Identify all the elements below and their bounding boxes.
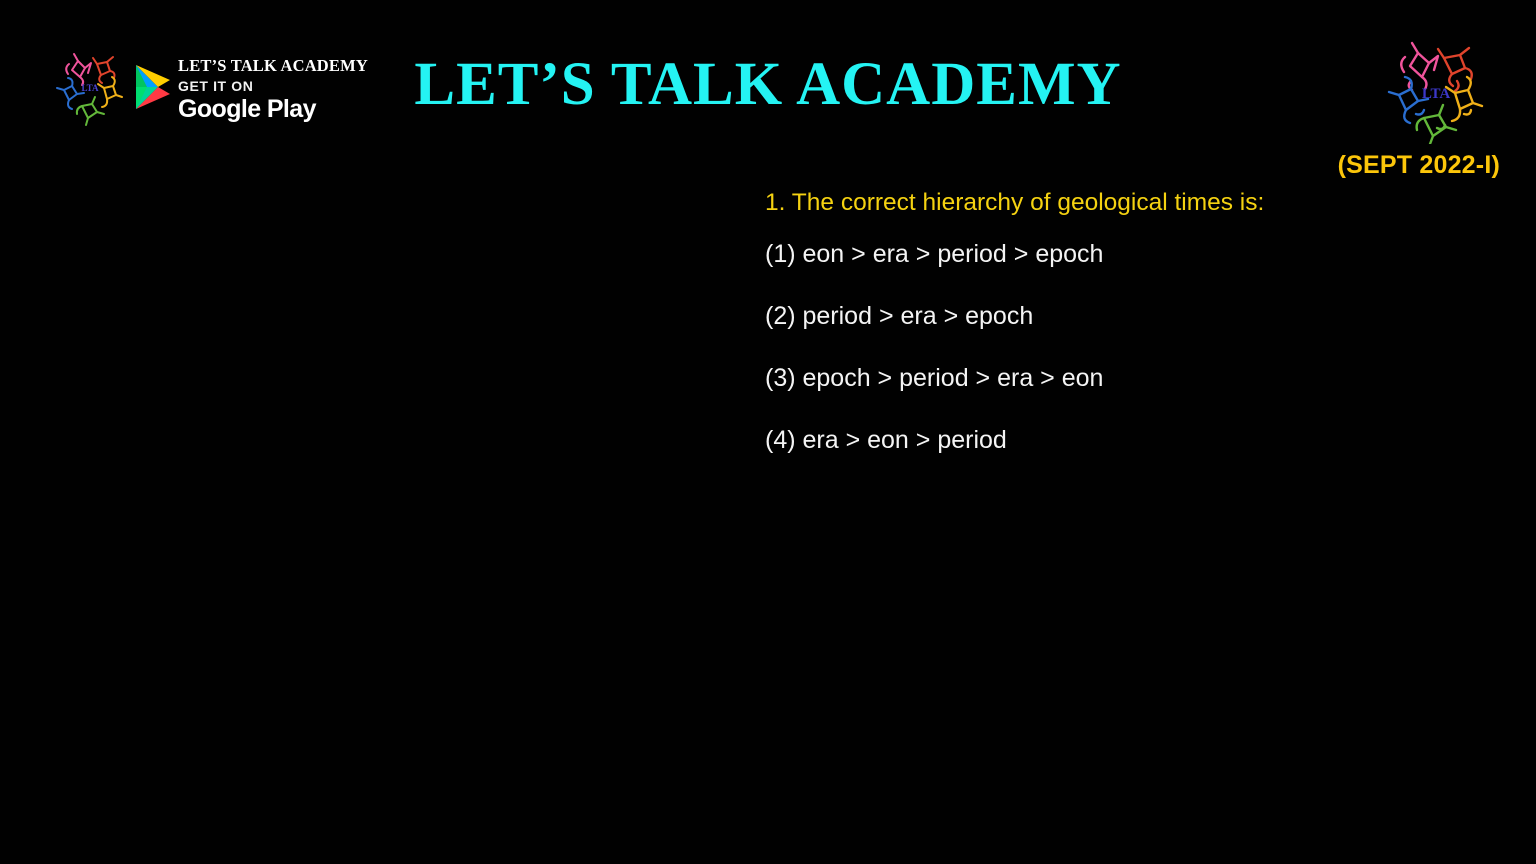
- answer-option-3[interactable]: (3) epoch > period > era > eon: [765, 363, 1505, 393]
- answer-option-1[interactable]: (1) eon > era > period > epoch: [765, 239, 1505, 269]
- slide-canvas: LTA LET’S TALK ACADEMY GET IT ON Google …: [0, 0, 1536, 864]
- exam-session-badge: (SEPT 2022-I): [1338, 152, 1500, 180]
- answer-option-4[interactable]: (4) era > eon > period: [765, 425, 1505, 455]
- svg-text:LTA: LTA: [1422, 86, 1451, 102]
- page-title: LET’S TALK ACADEMY: [0, 54, 1536, 115]
- answer-option-list: (1) eon > era > period > epoch (2) perio…: [765, 239, 1505, 455]
- question-block: 1. The correct hierarchy of geological t…: [765, 188, 1505, 455]
- answer-option-2[interactable]: (2) period > era > epoch: [765, 301, 1505, 331]
- question-stem: 1. The correct hierarchy of geological t…: [765, 188, 1505, 217]
- academy-logo-corner-icon: LTA: [1382, 36, 1490, 144]
